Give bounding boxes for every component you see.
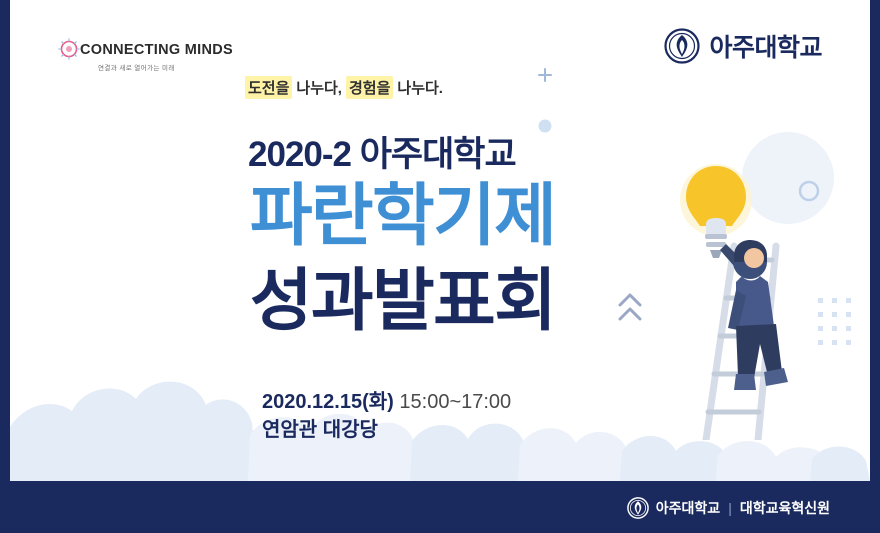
title-line-1: 파란학기제 (250, 182, 555, 250)
schedule-time: 15:00~17:00 (399, 391, 511, 413)
chevron-up-decoration-icon (617, 288, 643, 328)
footer: 아주대학교 | 대학교육혁신원 (627, 497, 830, 519)
footer-department: 대학교육혁신원 (740, 498, 830, 518)
person-on-ladder-reaching-lightbulb-illustration (650, 150, 850, 440)
title-kicker: 2020-2 아주대학교 (248, 126, 516, 177)
partner-logo: CONNECTING MINDS 연결과 새로 열어가는 미래 (58, 36, 238, 80)
tagline-highlight-1: 도전을 (245, 76, 292, 99)
partner-logo-name: CONNECTING MINDS (80, 42, 233, 58)
footer-band: 아주대학교 | 대학교육혁신원 (10, 481, 870, 533)
footer-divider: | (728, 500, 732, 516)
footer-university: 아주대학교 (656, 498, 720, 518)
poster-stage: CONNECTING MINDS 연결과 새로 열어가는 미래 아주대학교 도전… (10, 0, 870, 533)
partner-logo-tagline: 연결과 새로 열어가는 미래 (98, 62, 175, 72)
ajou-university-emblem-icon (664, 28, 700, 64)
connecting-minds-mark-icon (58, 38, 80, 60)
ajou-university-emblem-icon (627, 497, 649, 519)
title-line-2: 성과발표회 (250, 267, 555, 335)
left-edge-bar (0, 0, 10, 533)
university-name: 아주대학교 (709, 28, 822, 64)
tagline-rest-1: 나누다, (296, 77, 342, 98)
poster-root: CONNECTING MINDS 연결과 새로 열어가는 미래 아주대학교 도전… (0, 0, 880, 533)
right-edge-bar (870, 0, 880, 533)
university-logo: 아주대학교 (664, 28, 822, 64)
tagline-rest-2: 나누다. (397, 77, 443, 98)
schedule-datetime: 2020.12.15(화) 15:00~17:00 (262, 385, 511, 414)
tagline: 도전을 나누다, 경험을 나누다. (245, 76, 443, 99)
schedule-date: 2020.12.15(화) (262, 391, 394, 413)
tagline-highlight-2: 경험을 (346, 76, 393, 99)
schedule-place: 연암관 대강당 (262, 413, 378, 442)
